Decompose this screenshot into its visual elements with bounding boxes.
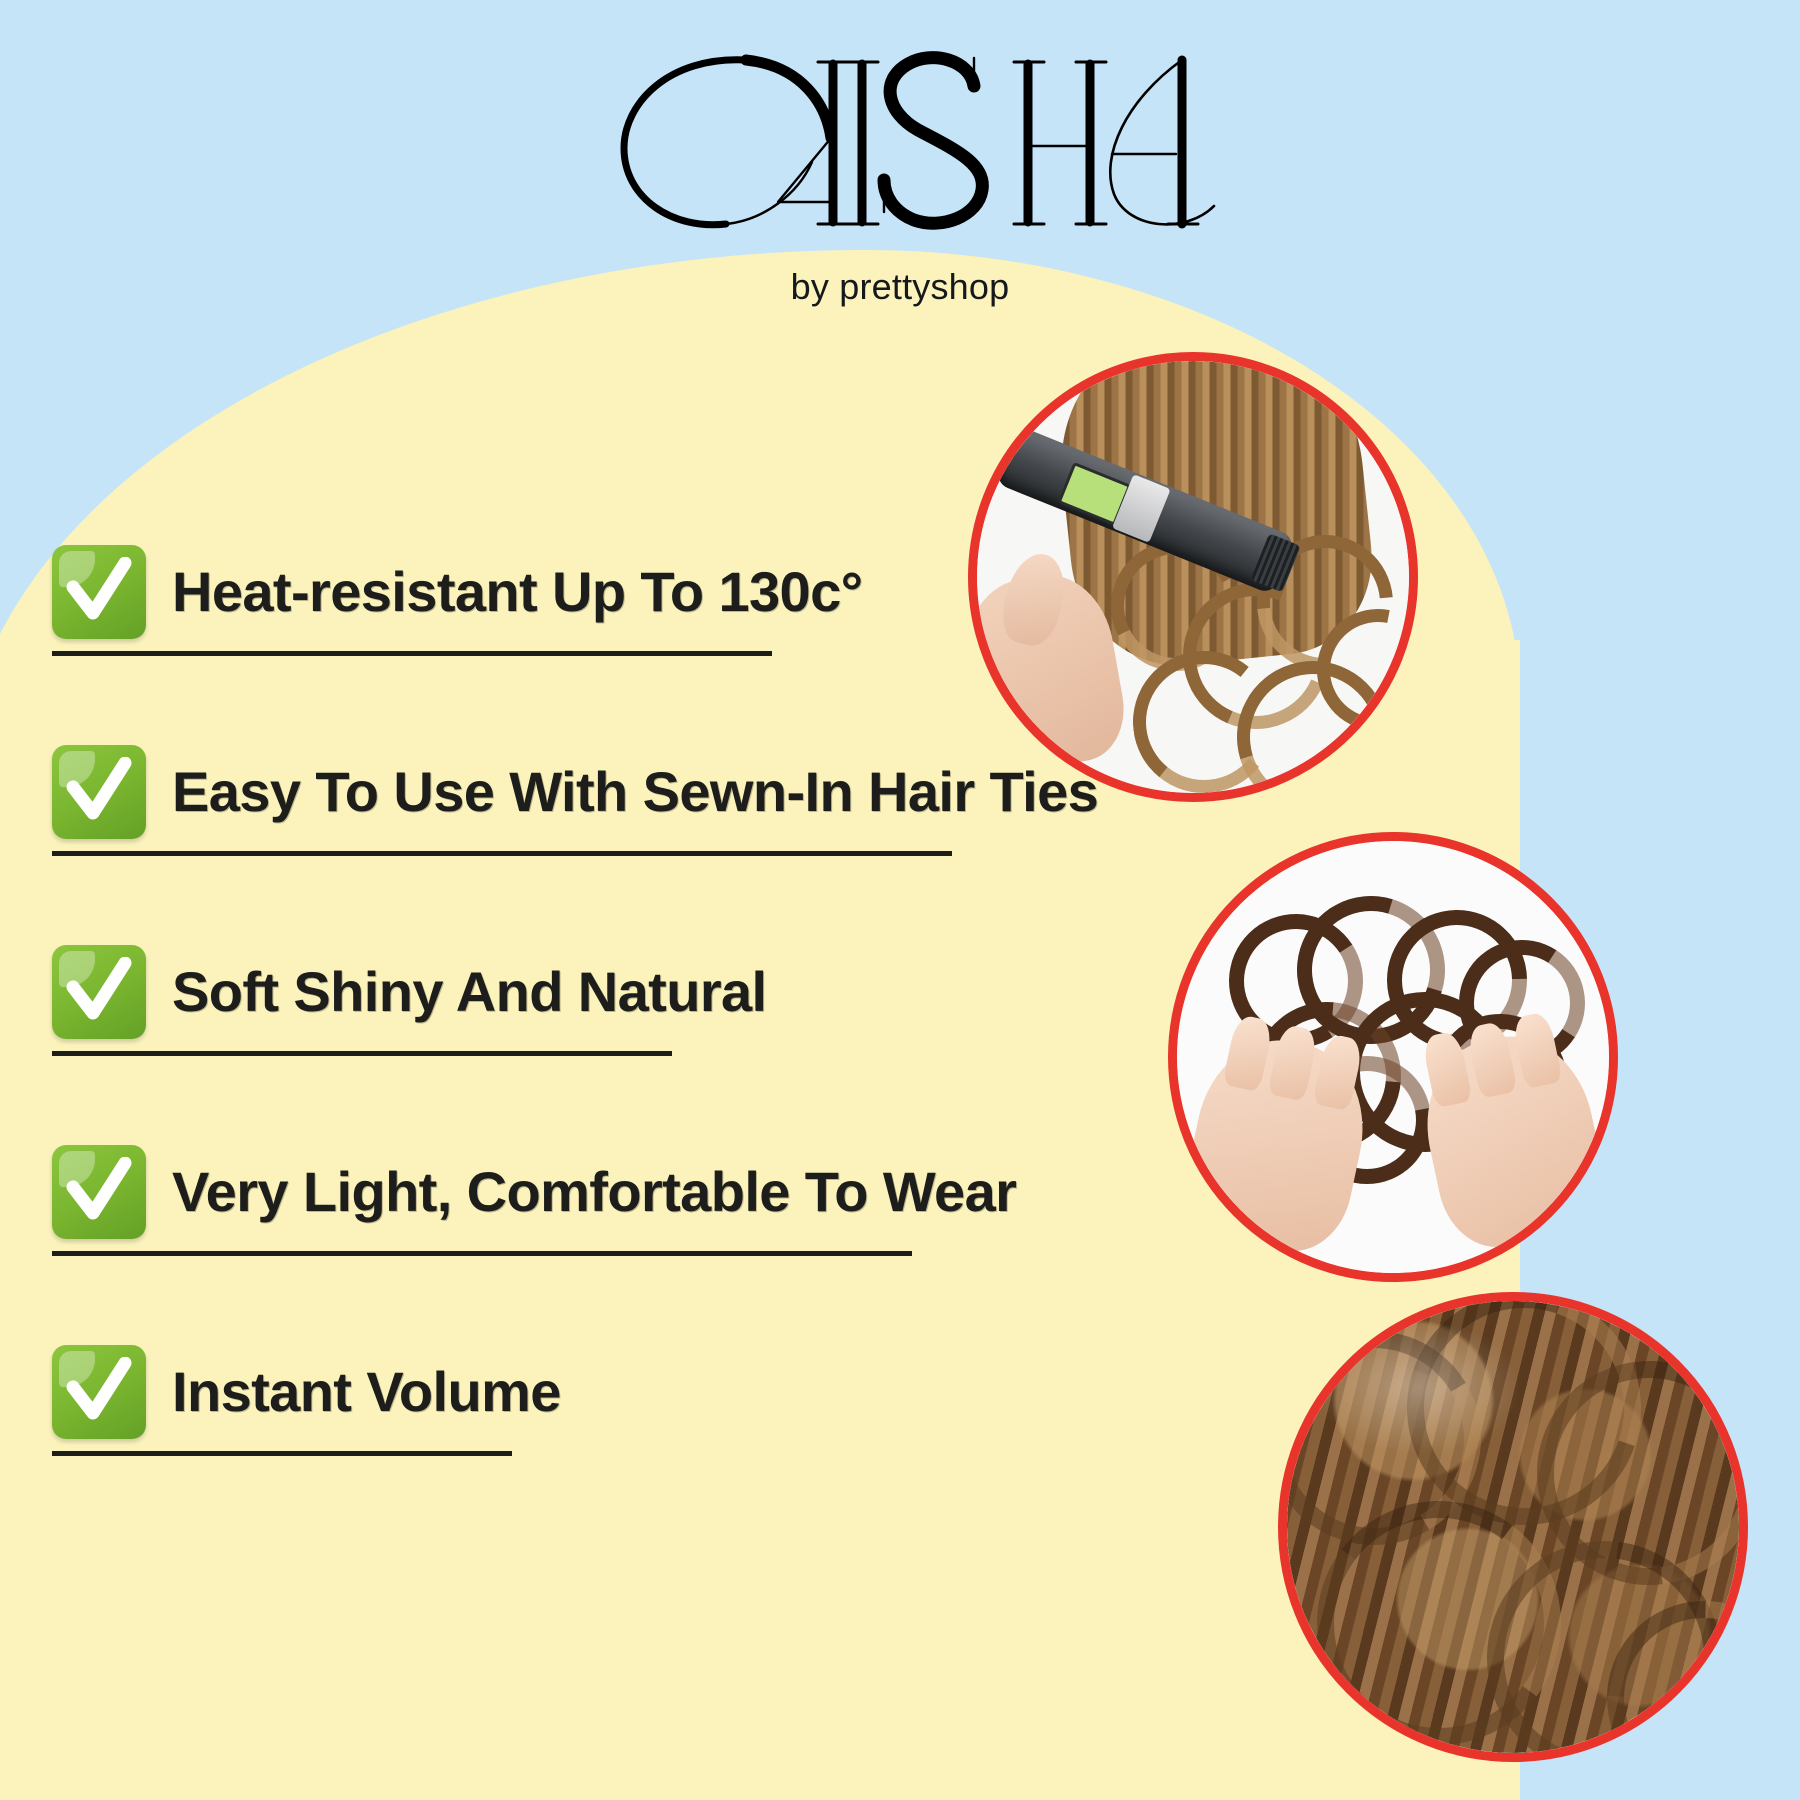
- green-check-icon: [52, 745, 146, 839]
- promo-graphic: CAISHA by prettyshop Heat-resistant Up T…: [0, 0, 1800, 1800]
- feature-underline: [52, 851, 952, 856]
- check-mark-icon: [63, 957, 135, 1027]
- brand-tagline: by prettyshop: [0, 266, 1800, 308]
- green-check-icon: [52, 1345, 146, 1439]
- feature-underline: [52, 1451, 512, 1456]
- feature-item-soft-shiny-natural: Soft Shiny And Natural: [52, 945, 1112, 1039]
- photo-2-inner: [1177, 841, 1609, 1273]
- feature-list: Heat-resistant Up To 130c° Easy To Use W…: [52, 545, 1112, 1439]
- photo-flat-iron-curling-hair: [968, 352, 1418, 802]
- green-check-icon: [52, 945, 146, 1039]
- photo-hands-holding-hair-scrunchie: [1168, 832, 1618, 1282]
- feature-label: Heat-resistant Up To 130c°: [172, 563, 862, 620]
- green-check-icon: [52, 1145, 146, 1239]
- feature-item-heat-resistant: Heat-resistant Up To 130c°: [52, 545, 1112, 639]
- feature-item-sewn-in-hair-ties: Easy To Use With Sewn-In Hair Ties: [52, 745, 1112, 839]
- photo-curly-hair-closeup: [1278, 1292, 1748, 1762]
- check-mark-icon: [63, 1157, 135, 1227]
- photo-1-inner: [977, 361, 1409, 793]
- brand-header: CAISHA by prettyshop: [0, 34, 1800, 308]
- photo-3-highlight: [1314, 1319, 1522, 1455]
- feature-label: Soft Shiny And Natural: [172, 963, 767, 1020]
- feature-item-very-light-comfortable: Very Light, Comfortable To Wear: [52, 1145, 1112, 1239]
- feature-underline: [52, 651, 772, 656]
- check-mark-icon: [63, 557, 135, 627]
- feature-underline: [52, 1051, 672, 1056]
- photo-3-inner: [1287, 1301, 1739, 1753]
- check-mark-icon: [63, 1357, 135, 1427]
- green-check-icon: [52, 545, 146, 639]
- feature-label: Easy To Use With Sewn-In Hair Ties: [172, 763, 1098, 820]
- caisha-wordmark-icon: [550, 34, 1250, 249]
- feature-label: Instant Volume: [172, 1363, 561, 1420]
- feature-underline: [52, 1251, 912, 1256]
- check-mark-icon: [63, 757, 135, 827]
- feature-label: Very Light, Comfortable To Wear: [172, 1163, 1016, 1220]
- brand-logo: CAISHA: [550, 34, 1250, 249]
- feature-item-instant-volume: Instant Volume: [52, 1345, 1112, 1439]
